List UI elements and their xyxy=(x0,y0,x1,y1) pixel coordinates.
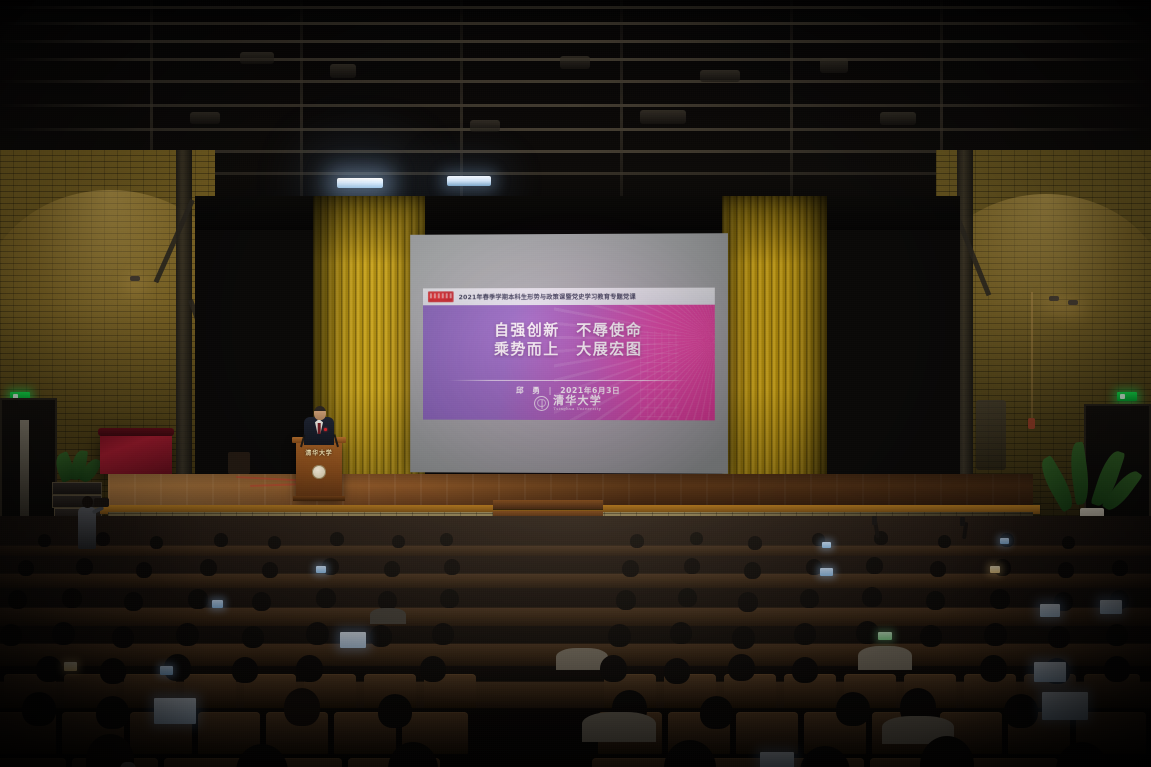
audience-head xyxy=(1106,624,1128,646)
audience-head xyxy=(684,558,700,574)
audience-head xyxy=(678,588,697,607)
audience-head xyxy=(62,588,82,608)
audience-head xyxy=(1112,560,1128,576)
audience-head xyxy=(866,557,883,574)
hanging-cord-right xyxy=(1031,292,1033,420)
speaker-torso xyxy=(304,417,334,445)
audience-head xyxy=(112,626,134,648)
slide-body: 自强创新 不辱使命 乘势而上 大展宏图 邱 勇 | 2021年6月3日 清华大学… xyxy=(423,305,715,421)
audience-head xyxy=(630,534,644,548)
slide-title-line-1: 自强创新 不辱使命 xyxy=(423,321,715,340)
audience-head xyxy=(306,622,329,645)
seat xyxy=(736,712,798,754)
podium: 清华大学 xyxy=(296,441,342,498)
audience-head xyxy=(794,623,816,645)
audience-head xyxy=(252,592,271,611)
audience-head xyxy=(664,658,690,684)
ceiling-light-icon xyxy=(447,176,491,186)
audience-head xyxy=(926,591,945,610)
audience-head xyxy=(200,559,217,576)
audience-head xyxy=(670,622,692,644)
audience-head xyxy=(268,536,281,549)
slide-title-line-2: 乘势而上 大展宏图 xyxy=(423,340,715,359)
cpc-100-emblem-icon xyxy=(428,291,454,302)
audience-head xyxy=(432,623,454,645)
audience-head xyxy=(76,558,93,575)
audience-head xyxy=(242,626,264,648)
audience-head xyxy=(444,559,460,575)
university-name-en: Tsinghua University xyxy=(553,407,602,411)
seat-row xyxy=(0,608,1151,626)
laptop-screen-icon xyxy=(340,632,366,648)
audience-seating xyxy=(0,516,1151,767)
laptop-screen-icon xyxy=(154,698,196,724)
audience-head xyxy=(1062,536,1075,549)
seat xyxy=(0,758,66,767)
laptop-screen-icon xyxy=(1034,662,1066,682)
audience-head xyxy=(38,534,51,547)
slide-divider xyxy=(449,380,689,381)
audience-head xyxy=(920,625,942,647)
grand-piano-icon xyxy=(100,432,172,474)
audience-head xyxy=(384,561,400,577)
phone-screen-icon xyxy=(160,666,173,675)
face-mask xyxy=(120,762,136,767)
phone-screen-icon xyxy=(1000,538,1009,544)
audience-head xyxy=(330,532,344,546)
slide-title: 自强创新 不辱使命 乘势而上 大展宏图 xyxy=(423,321,715,359)
exit-sign-icon-right xyxy=(1117,392,1137,401)
slide-header-bar: 2021年春季学期本科生形势与政策课暨党史学习教育专题党课 xyxy=(423,288,715,306)
piano-cover xyxy=(98,428,174,436)
audience-head xyxy=(440,589,459,608)
audience-head xyxy=(980,655,1007,682)
audience-head xyxy=(316,588,336,608)
projection-screen: 2021年春季学期本科生形势与政策课暨党史学习教育专题党课 自强创新 不辱使命 … xyxy=(410,233,728,474)
speaker-head xyxy=(314,406,326,420)
phone-screen-icon xyxy=(64,662,77,671)
audience-head xyxy=(52,622,75,645)
audience-head xyxy=(1104,656,1130,682)
audience-head xyxy=(984,623,1007,646)
audience-head xyxy=(232,657,258,683)
audience-head xyxy=(930,561,946,577)
phone-screen-icon xyxy=(872,516,877,525)
phone-screen-icon xyxy=(212,600,223,608)
seat xyxy=(962,758,1058,767)
audience-head xyxy=(800,589,819,608)
slide-speaker-name: 邱 勇 xyxy=(516,386,540,395)
audience-head xyxy=(22,692,56,726)
seat-row xyxy=(0,574,1151,588)
laptop-screen-icon xyxy=(1042,692,1088,720)
wall-lamp-left xyxy=(130,276,140,281)
audience-head xyxy=(836,692,870,726)
audience-head xyxy=(608,624,631,647)
stage-equipment xyxy=(228,452,250,474)
audience-head xyxy=(938,535,951,548)
audience-head xyxy=(862,587,882,607)
audience-head xyxy=(378,694,412,728)
audience-head xyxy=(1004,694,1038,728)
audience-head xyxy=(690,532,703,545)
audience-head xyxy=(856,621,879,644)
audience-head xyxy=(1058,562,1074,578)
speaker-cabinet-right-2 xyxy=(976,400,1006,470)
audience-head xyxy=(600,655,627,682)
audience-head xyxy=(262,562,278,578)
audience-head xyxy=(728,654,755,681)
laptop-screen-icon xyxy=(1100,600,1122,614)
video-camera-icon xyxy=(94,498,109,507)
audience-head xyxy=(136,562,152,578)
lapel-pin xyxy=(324,428,327,431)
audience-shoulders xyxy=(582,712,656,742)
audience-head xyxy=(284,688,320,726)
slide-header-text: 2021年春季学期本科生形势与政策课暨党史学习教育专题党课 xyxy=(459,292,636,301)
audience-head xyxy=(0,624,22,646)
audience-head xyxy=(100,658,126,684)
audience-head xyxy=(744,562,761,579)
audience-head xyxy=(748,536,762,550)
audience-head xyxy=(36,656,62,682)
laptop-screen-icon xyxy=(820,568,833,576)
door-light-left xyxy=(20,420,29,520)
presentation-slide: 2021年春季学期本科生形势与政策课暨党史学习教育专题党课 自强创新 不辱使命 … xyxy=(423,288,715,421)
phone-screen-icon xyxy=(878,632,892,640)
stage-curtain-right xyxy=(722,196,827,506)
university-seal-icon xyxy=(534,395,549,410)
phone-screen-icon xyxy=(316,566,326,573)
laptop-screen-icon xyxy=(1040,604,1060,617)
wall-lamp-right-2 xyxy=(1068,300,1078,305)
phone-screen-icon xyxy=(822,542,831,548)
camera-operator-head xyxy=(82,496,93,508)
audience-head xyxy=(616,590,636,610)
audience-shoulders xyxy=(370,608,406,624)
seat-row xyxy=(0,546,1151,556)
seat xyxy=(724,674,776,708)
podium-seal-icon xyxy=(312,465,326,479)
audience-head xyxy=(990,589,1010,609)
audience-head xyxy=(124,592,143,611)
audience-head xyxy=(8,590,27,609)
audience-head xyxy=(738,592,758,612)
audience-head xyxy=(96,696,129,729)
audience-head xyxy=(18,560,34,576)
audience-head xyxy=(150,536,163,549)
ceiling-light-icon xyxy=(337,178,383,188)
audience-head xyxy=(96,532,110,546)
audience-head xyxy=(440,533,453,546)
laptop-screen-icon xyxy=(760,752,794,767)
slide-university-logo: 清华大学 Tsinghua University xyxy=(423,395,715,412)
audience-head xyxy=(732,626,755,649)
audience-shoulders xyxy=(858,646,912,670)
audience-head xyxy=(370,625,392,647)
audience-head xyxy=(296,655,323,682)
audience-head xyxy=(176,623,199,646)
podium-nameplate: 清华大学 xyxy=(302,448,336,456)
audience-head xyxy=(188,589,208,609)
auditorium-photo: 2021年春季学期本科生形势与政策课暨党史学习教育专题党课 自强创新 不辱使命 … xyxy=(0,0,1151,767)
audience-head xyxy=(1048,626,1070,648)
audience-head xyxy=(792,657,818,683)
phone-screen-icon xyxy=(960,517,965,526)
audience-head xyxy=(700,696,733,729)
audience-head xyxy=(214,533,228,547)
equipment-case xyxy=(52,482,102,495)
university-name-cn: 清华大学 xyxy=(553,395,602,406)
phone-screen-icon xyxy=(990,566,1000,573)
cord-weight-right xyxy=(1028,418,1035,429)
audience-head xyxy=(420,656,446,682)
wall-lamp-right xyxy=(1049,296,1059,301)
audience-head xyxy=(392,535,405,548)
audience-head xyxy=(622,560,639,577)
